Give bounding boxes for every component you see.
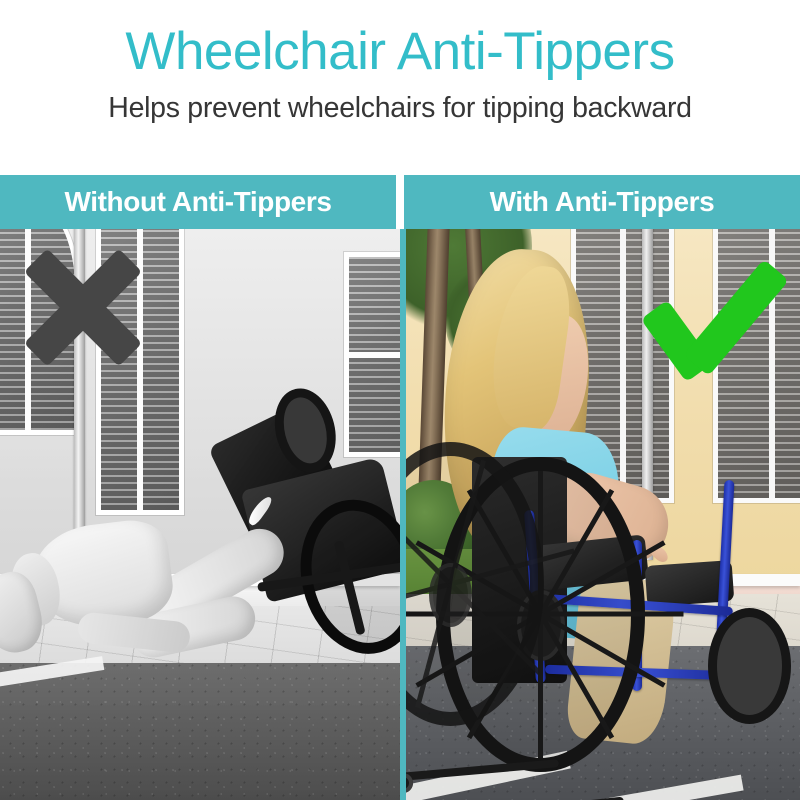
header: Wheelchair Anti-Tippers Helps prevent wh… bbox=[0, 0, 800, 175]
panel-with-anti-tippers bbox=[400, 229, 800, 800]
window-arched bbox=[0, 229, 80, 435]
comparison-label-bar-row: Without Anti-Tippers With Anti-Tippers bbox=[0, 175, 800, 229]
fallen-person bbox=[0, 480, 296, 663]
photo-without-anti-tippers bbox=[0, 229, 400, 800]
asphalt-road bbox=[0, 663, 400, 800]
infographic-root: Wheelchair Anti-Tippers Helps prevent wh… bbox=[0, 0, 800, 800]
photo-with-anti-tippers bbox=[406, 229, 800, 800]
label-bar-without-anti-tippers: Without Anti-Tippers bbox=[0, 175, 396, 229]
window-shuttered-left bbox=[96, 229, 184, 515]
wheelchair-with-anti-tippers bbox=[422, 435, 784, 800]
label-bar-divider bbox=[396, 175, 404, 229]
page-title: Wheelchair Anti-Tippers bbox=[0, 0, 800, 82]
front-castor-wheel bbox=[708, 608, 791, 724]
label-bar-without-text: Without Anti-Tippers bbox=[64, 186, 331, 218]
label-bar-with-text: With Anti-Tippers bbox=[490, 186, 715, 218]
page-subtitle: Helps prevent wheelchairs for tipping ba… bbox=[0, 82, 800, 125]
label-bar-with-anti-tippers: With Anti-Tippers bbox=[404, 175, 800, 229]
panel-without-anti-tippers bbox=[0, 229, 400, 800]
comparison-panels bbox=[0, 229, 800, 800]
